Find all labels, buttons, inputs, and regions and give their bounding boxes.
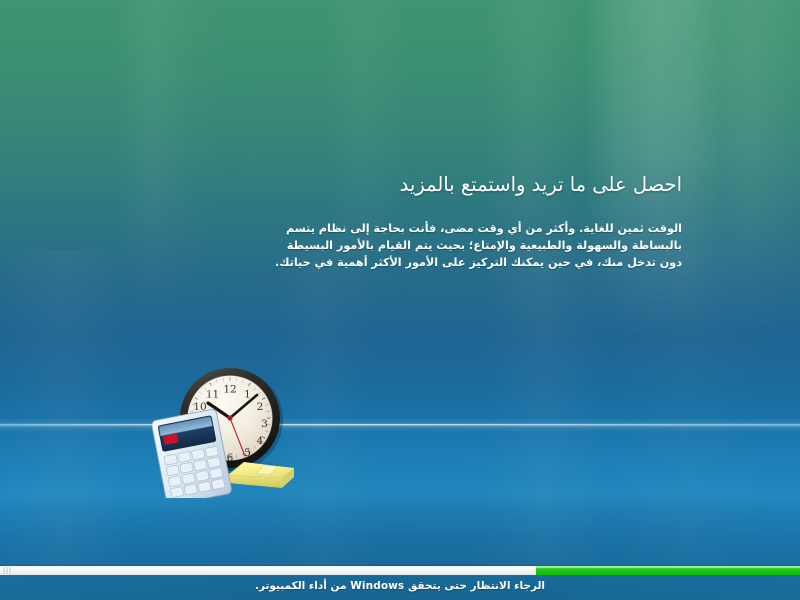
setup-screen: احصل على ما تريد واستمتع بالمزيد الوقت ث… bbox=[0, 0, 800, 600]
svg-text:3: 3 bbox=[261, 418, 268, 430]
svg-text:5: 5 bbox=[244, 447, 251, 459]
promo-headline: احصل على ما تريد واستمتع بالمزيد bbox=[272, 172, 682, 198]
progress-bar-tick-marks bbox=[2, 567, 12, 574]
promo-body-text: الوقت ثمين للغاية. وأكثر من أي وقت مضى، … bbox=[272, 220, 682, 271]
svg-text:12: 12 bbox=[223, 384, 236, 396]
status-message: الرجاء الانتظار حتى يتحقق Windows من أدا… bbox=[0, 580, 800, 592]
clock-calculator-notepad-illustration: 12 1 2 3 4 5 6 7 8 9 10 11 bbox=[152, 358, 332, 498]
svg-text:2: 2 bbox=[257, 401, 264, 413]
progress-bar bbox=[0, 566, 800, 575]
promo-text-block: احصل على ما تريد واستمتع بالمزيد الوقت ث… bbox=[272, 172, 682, 271]
background-streaks bbox=[0, 250, 800, 570]
background-horizon-line bbox=[0, 418, 800, 432]
svg-text:1: 1 bbox=[244, 389, 251, 401]
svg-text:6: 6 bbox=[227, 452, 234, 464]
svg-text:4: 4 bbox=[257, 435, 264, 447]
progress-bar-fill bbox=[0, 566, 536, 575]
progress-bar-remaining bbox=[536, 566, 800, 575]
status-area: الرجاء الانتظار حتى يتحقق Windows من أدا… bbox=[0, 554, 800, 600]
